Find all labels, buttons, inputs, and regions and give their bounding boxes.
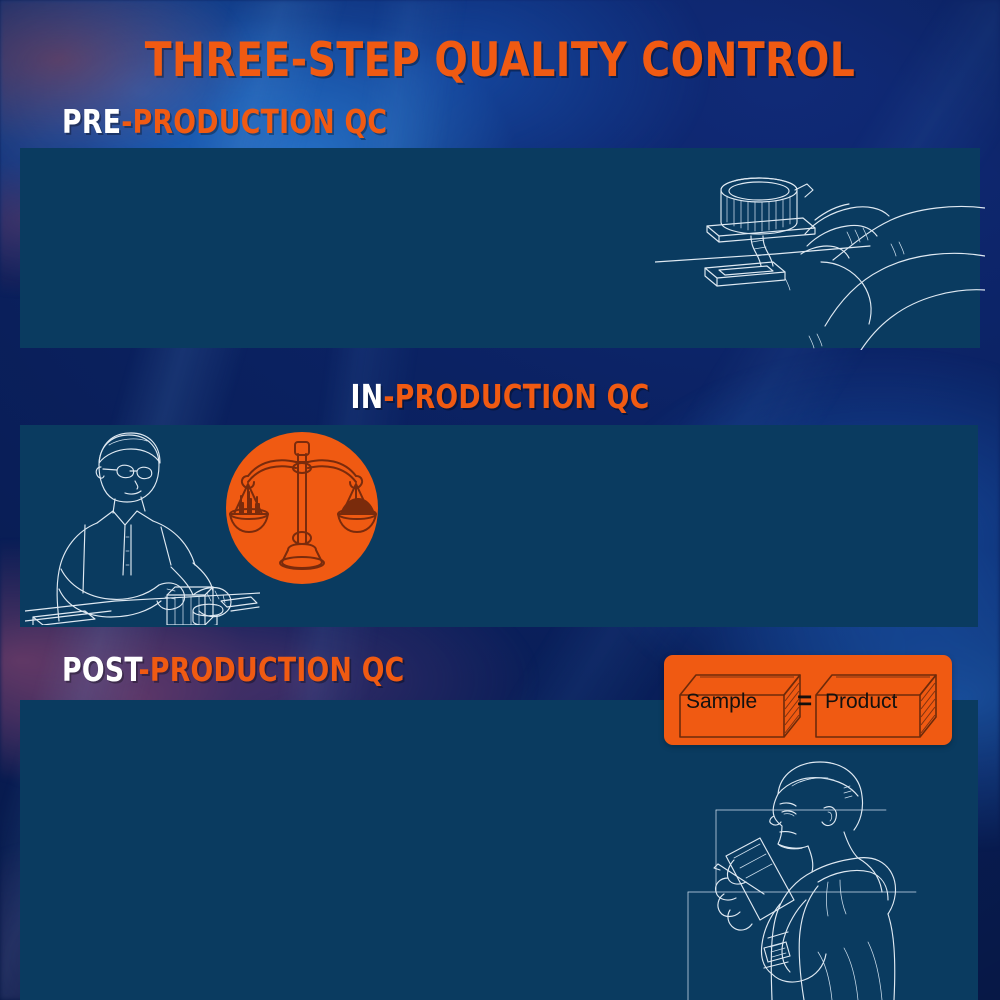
page-title: THREE-STEP QUALITY CONTROL [35,33,965,88]
equals-sign: = [797,685,812,716]
heading-suffix: -PRODUCTION QC [121,102,387,141]
section-heading-post: POST-PRODUCTION QC [62,650,405,689]
sample-label: Sample [686,690,757,714]
heading-prefix: POST [62,650,138,689]
panel-pre-production [20,148,980,348]
panel-in-production [20,425,978,627]
section-heading-in: IN-PRODUCTION QC [50,377,950,416]
heading-suffix: -PRODUCTION QC [138,650,404,689]
product-label: Product [825,690,897,714]
heading-prefix: PRE [62,102,121,141]
balance-scale-icon [226,432,378,584]
heading-suffix: -PRODUCTION QC [383,377,649,416]
panel-post-production [20,700,978,1000]
heading-prefix: IN [351,377,384,416]
section-heading-pre: PRE-PRODUCTION QC [62,102,387,141]
